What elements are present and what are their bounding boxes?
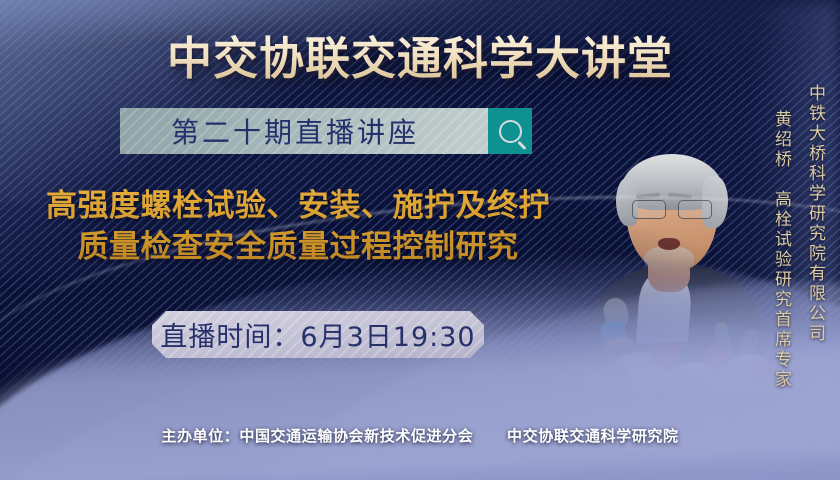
broadcast-time-badge: 直播时间：6月3日19:30 [152,311,484,358]
lecture-title: 高强度螺栓试验、安装、施拧及终拧 质量检查安全质量过程控制研究 [8,186,588,268]
search-button[interactable] [488,108,532,154]
organizer-secondary: 中交协联交通科学研究院 [507,427,679,445]
broadcast-time-text: 直播时间：6月3日19:30 [160,315,475,354]
organizers-footer: 主办单位：中国交通运输协会新技术促进分会 中交协联交通科学研究院 [0,425,840,446]
lecture-title-line-2: 质量检查安全质量过程控制研究 [8,227,588,268]
episode-label: 第二十期直播讲座 [120,108,488,154]
page-title: 中交协联交通科学大讲堂 [0,22,840,87]
lecture-title-line-1: 高强度螺栓试验、安装、施拧及终拧 [46,188,550,224]
speaker-name-and-role: 黄绍桥 高栓试验研究首席专家 [769,110,794,390]
speaker-organization: 中铁大桥科学研究院有限公司 [803,84,828,344]
episode-banner: 第二十期直播讲座 [120,108,532,154]
livestream-promo-poster: 中交协联交通科学大讲堂 第二十期直播讲座 高强度螺栓试验、安装、施拧及终拧 质量… [0,0,840,480]
search-icon [499,120,522,143]
organizer-primary: 主办单位：中国交通运输协会新技术促进分会 [161,427,473,445]
